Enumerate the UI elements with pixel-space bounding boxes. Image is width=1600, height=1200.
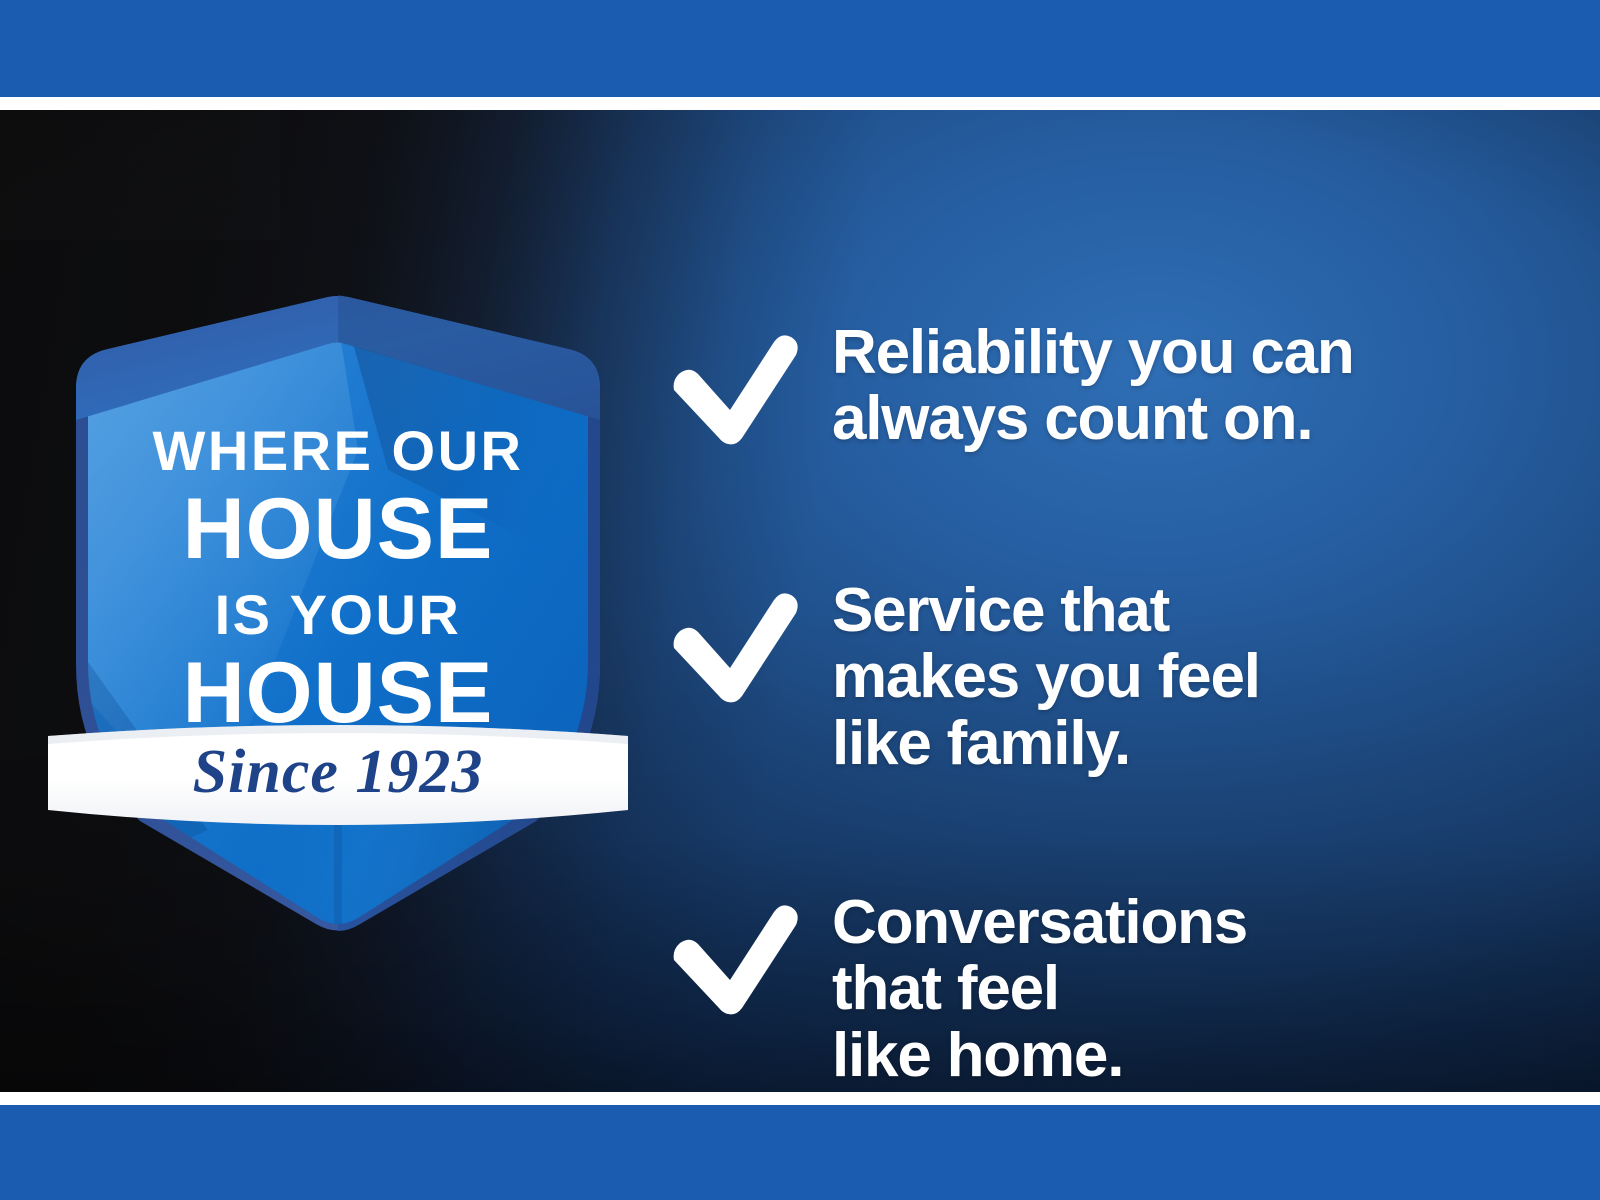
text-line: like family.: [832, 711, 1544, 777]
promo-graphic: WHERE OUR HOUSE IS YOUR HOUSE Since 1923: [0, 0, 1600, 1200]
top-brand-bar: [0, 0, 1600, 97]
checkmark-icon: [668, 328, 802, 446]
logo-banner: Since 1923: [48, 725, 628, 825]
text-line: Service that: [832, 578, 1544, 644]
logo-line-1: HOUSE: [183, 481, 494, 577]
text-line: Conversations: [832, 890, 1544, 956]
logo-line-0: WHERE OUR: [153, 419, 524, 482]
bottom-divider: [0, 1092, 1600, 1105]
main-content-panel: WHERE OUR HOUSE IS YOUR HOUSE Since 1923: [0, 110, 1600, 1092]
banner-text: Since 1923: [193, 738, 484, 806]
list-item-text: Conversations that feel like home.: [832, 890, 1544, 1089]
list-item-text: Service that makes you feel like family.: [832, 578, 1544, 777]
checkmark-icon: [668, 898, 802, 1016]
top-divider: [0, 97, 1600, 110]
text-line: like home.: [832, 1023, 1544, 1089]
bottom-brand-bar: [0, 1105, 1600, 1200]
logo-shield: WHERE OUR HOUSE IS YOUR HOUSE Since 1923: [58, 270, 618, 930]
text-line: always count on.: [832, 386, 1544, 452]
checkmark-icon: [668, 586, 802, 704]
text-line: that feel: [832, 956, 1544, 1022]
list-item-text: Reliability you can always count on.: [832, 320, 1544, 453]
background-grain-texture: [0, 110, 280, 240]
logo-line-2: IS YOUR: [215, 583, 462, 646]
benefits-list: Reliability you can always count on. Ser…: [660, 220, 1560, 1092]
text-line: Reliability you can: [832, 320, 1544, 386]
text-line: makes you feel: [832, 644, 1544, 710]
